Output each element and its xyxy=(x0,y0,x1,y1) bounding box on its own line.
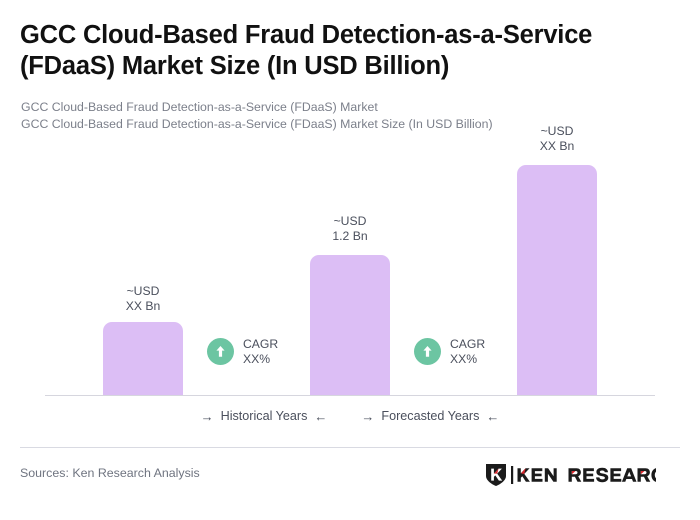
cagr-badge-2-value: XX% xyxy=(450,352,485,367)
bar-historical xyxy=(103,322,183,395)
bar-value-label-2: ~USD 1.2 Bn xyxy=(310,214,390,243)
ken-research-logo xyxy=(484,463,656,487)
cagr-badge-1-circle xyxy=(207,338,234,365)
chart-card: GCC Cloud-Based Fraud Detection-as-a-Ser… xyxy=(0,0,700,520)
bar-value-label-2-line1: ~USD xyxy=(310,214,390,229)
arrow-right-icon: → xyxy=(201,410,214,423)
bar-value-label-1-line2: XX Bn xyxy=(103,299,183,314)
bar-value-label-3: ~USD XX Bn xyxy=(517,124,597,153)
footer-divider xyxy=(20,447,680,448)
bar-value-label-2-line2: 1.2 Bn xyxy=(310,229,390,244)
cagr-badge-1: CAGR XX% xyxy=(207,337,278,366)
arrow-up-icon xyxy=(422,345,433,358)
legend-item-forecasted: → Forecasted Years ← xyxy=(361,409,499,423)
arrow-left-icon: ← xyxy=(486,410,499,423)
legend-item-historical: → Historical Years ← xyxy=(201,409,328,423)
bar-base-year xyxy=(310,255,390,395)
legend-label-historical: Historical Years xyxy=(221,409,308,423)
cagr-badge-1-label: CAGR xyxy=(243,337,278,352)
cagr-badge-1-text: CAGR XX% xyxy=(243,337,278,366)
cagr-badge-2: CAGR XX% xyxy=(414,337,485,366)
arrow-right-icon: → xyxy=(361,410,374,423)
bar-value-label-1: ~USD XX Bn xyxy=(103,284,183,313)
legend-label-forecasted: Forecasted Years xyxy=(381,409,479,423)
legend: → Historical Years ← → Forecasted Years … xyxy=(0,409,700,423)
axis-baseline xyxy=(45,395,655,396)
arrow-up-icon xyxy=(215,345,226,358)
sources-text: Sources: Ken Research Analysis xyxy=(20,466,200,480)
bar-forecast xyxy=(517,165,597,395)
cagr-badge-2-circle xyxy=(414,338,441,365)
cagr-badge-1-value: XX% xyxy=(243,352,278,367)
bar-value-label-3-line2: XX Bn xyxy=(517,139,597,154)
cagr-badge-2-text: CAGR XX% xyxy=(450,337,485,366)
plot-area: ~USD XX Bn ~USD 1.2 Bn ~USD XX Bn xyxy=(0,0,700,440)
cagr-badge-2-label: CAGR xyxy=(450,337,485,352)
bar-value-label-1-line1: ~USD xyxy=(103,284,183,299)
bar-value-label-3-line1: ~USD xyxy=(517,124,597,139)
arrow-left-icon: ← xyxy=(314,410,327,423)
